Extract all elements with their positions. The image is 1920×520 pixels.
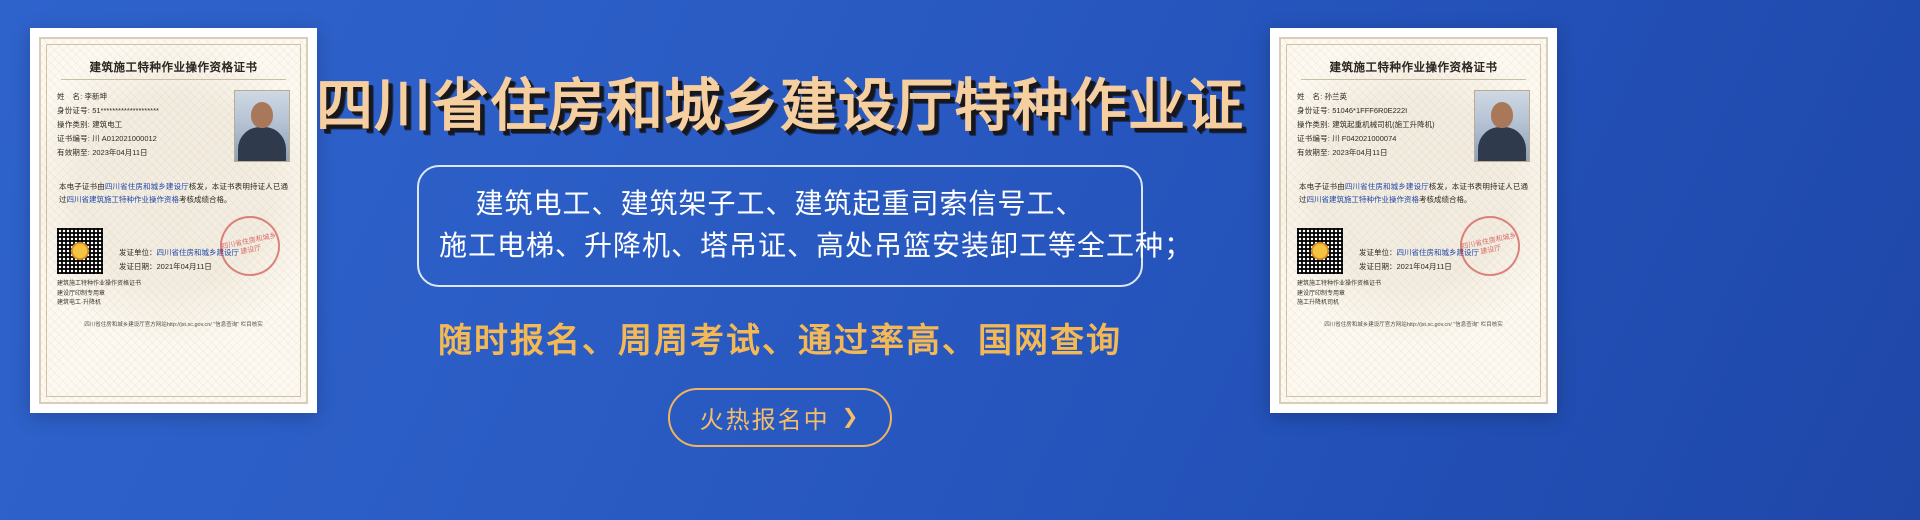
paragraph-highlight-2: 四川省建筑施工特种作业操作资格 (67, 195, 180, 204)
certificate-field-expiry: 有效期至: 2023年04月11日 (1297, 146, 1466, 160)
issue-date-value: 2021年04月11日 (1397, 262, 1452, 271)
field-label: 身份证号: (57, 106, 90, 115)
certificate-paragraph-right: 本电子证书由四川省住房和城乡建设厅核发，本证书表明持证人已通过四川省建筑施工特种… (1297, 180, 1530, 206)
banner-center-content: 四川省住房和城乡建设厅特种作业证 建筑电工、建筑架子工、建筑起重司索信号工、 施… (360, 0, 1200, 520)
certificate-field-category: 操作类别: 建筑电工 (57, 118, 226, 132)
field-value: 建筑起重机械司机(施工升降机) (1332, 120, 1435, 129)
certificate-mini-lines-left: 建筑施工特种作业操作资格证书 建设厅印制专用章 建筑电工·升降机 (57, 280, 290, 309)
certificate-field-number: 证书编号: 川 A012021000012 (57, 132, 226, 146)
mini-line: 建设厅印制专用章 (57, 290, 290, 300)
mini-line: 建筑电工·升降机 (57, 299, 290, 309)
field-label: 有效期至: (57, 148, 90, 157)
photo-torso (238, 127, 286, 161)
field-value: 51******************** (92, 106, 159, 115)
certificate-paragraph-left: 本电子证书由四川省住房和城乡建设厅核发，本证书表明持证人已通过四川省建筑施工特种… (57, 180, 290, 206)
certificate-title-rule-left (61, 79, 286, 80)
certificate-body-left: 姓 名: 李新坤 身份证号: 51******************** 操作… (57, 90, 290, 162)
certificate-field-name: 姓 名: 李新坤 (57, 90, 226, 104)
issue-date-line: 发证日期：2021年04月11日 (1359, 260, 1530, 274)
certificate-field-category: 操作类别: 建筑起重机械司机(施工升降机) (1297, 118, 1466, 132)
certificate-field-name: 姓 名: 孙兰英 (1297, 90, 1466, 104)
field-label: 姓 名: (57, 92, 82, 101)
certificate-fields-right: 姓 名: 孙兰英 身份证号: 51046*1FFF6R0E222I 操作类别: … (1297, 90, 1466, 162)
certificate-fields-left: 姓 名: 李新坤 身份证号: 51******************** 操作… (57, 90, 226, 162)
mini-line: 施工升降机司机 (1297, 299, 1530, 309)
issuer-line: 发证单位：四川省住房和城乡建设厅 (1359, 246, 1530, 260)
specialty-line-2: 施工电梯、升降机、塔吊证、高处吊篮安装卸工等全工种； (439, 225, 1121, 267)
field-label: 身份证号: (1297, 106, 1330, 115)
certificate-title-rule-right (1301, 79, 1526, 80)
certificate-card-right: 建筑施工特种作业操作资格证书 姓 名: 孙兰英 身份证号: 51046*1FFF… (1270, 28, 1557, 413)
field-label: 证书编号: (57, 134, 90, 143)
certificate-field-number: 证书编号: 川 F042021000074 (1297, 132, 1466, 146)
field-value: 51046*1FFF6R0E222I (1332, 106, 1407, 115)
chevron-right-icon: ❯ (842, 407, 861, 427)
issuer-line: 发证单位：四川省住房和城乡建设厅 (119, 246, 290, 260)
field-label: 证书编号: (1297, 134, 1330, 143)
paragraph-highlight: 四川省住房和城乡建设厅 (105, 182, 189, 191)
certificate-footer-left: 发证单位：四川省住房和城乡建设厅 发证日期：2021年04月11日 四川省住房和… (57, 228, 290, 274)
field-value: 孙兰英 (1324, 92, 1347, 101)
issue-date-label: 发证日期： (1359, 262, 1397, 271)
field-value: 川 F042021000074 (1332, 134, 1396, 143)
mini-line: 建筑施工特种作业操作资格证书 (57, 280, 290, 290)
photo-torso (1478, 127, 1526, 161)
field-value: 建筑电工 (92, 120, 122, 129)
field-value: 2023年04月11日 (92, 148, 147, 157)
page-title: 四川省住房和城乡建设厅特种作业证 (316, 78, 1244, 135)
certificate-field-expiry: 有效期至: 2023年04月11日 (57, 146, 226, 160)
certificate-inner-left: 建筑施工特种作业操作资格证书 姓 名: 李新坤 身份证号: 51********… (39, 37, 308, 404)
certificate-photo-right (1474, 90, 1530, 162)
issue-date-value: 2021年04月11日 (157, 262, 212, 271)
certificate-title-right: 建筑施工特种作业操作资格证书 (1297, 59, 1530, 75)
enroll-cta-button[interactable]: 火热报名中 ❯ (668, 388, 893, 447)
certificate-photo-left (234, 90, 290, 162)
field-value: 李新坤 (84, 92, 107, 101)
paragraph-highlight-2: 四川省建筑施工特种作业操作资格 (1307, 195, 1420, 204)
certificate-footer-right: 发证单位：四川省住房和城乡建设厅 发证日期：2021年04月11日 四川省住房和… (1297, 228, 1530, 274)
certificate-issuer-right: 发证单位：四川省住房和城乡建设厅 发证日期：2021年04月11日 四川省住房和… (1353, 246, 1530, 274)
certificate-field-id: 身份证号: 51046*1FFF6R0E222I (1297, 104, 1466, 118)
paragraph-end: 考核成绩合格。 (179, 195, 232, 204)
mini-line: 建设厅印制专用章 (1297, 290, 1530, 300)
certificate-mini-lines-right: 建筑施工特种作业操作资格证书 建设厅印制专用章 施工升降机司机 (1297, 280, 1530, 309)
certificate-body-right: 姓 名: 孙兰英 身份证号: 51046*1FFF6R0E222I 操作类别: … (1297, 90, 1530, 162)
mini-line: 建筑施工特种作业操作资格证书 (1297, 280, 1530, 290)
promo-banner: 建筑施工特种作业操作资格证书 姓 名: 李新坤 身份证号: 51********… (0, 0, 1920, 520)
issue-date-line: 发证日期：2021年04月11日 (119, 260, 290, 274)
paragraph-highlight: 四川省住房和城乡建设厅 (1345, 182, 1429, 191)
certificate-field-id: 身份证号: 51******************** (57, 104, 226, 118)
certificate-footer-note-right: 四川省住房和城乡建设厅官方网站http://jst.sc.gov.cn/ "信息… (1297, 321, 1530, 330)
paragraph-prefix: 本电子证书由 (1299, 182, 1345, 191)
paragraph-prefix: 本电子证书由 (59, 182, 105, 191)
certificate-footer-note-left: 四川省住房和城乡建设厅官方网站http://jst.sc.gov.cn/ "信息… (57, 321, 290, 330)
certificate-title-left: 建筑施工特种作业操作资格证书 (57, 59, 290, 75)
slogan-text: 随时报名、周周考试、通过率高、国网查询 (438, 313, 1122, 362)
issuer-label: 发证单位： (119, 248, 157, 257)
field-label: 操作类别: (57, 120, 90, 129)
issuer-label: 发证单位： (1359, 248, 1397, 257)
certificate-inner-right: 建筑施工特种作业操作资格证书 姓 名: 孙兰英 身份证号: 51046*1FFF… (1279, 37, 1548, 404)
specialty-line-1: 建筑电工、建筑架子工、建筑起重司索信号工、 (439, 183, 1121, 225)
photo-head (1491, 102, 1513, 128)
field-value: 2023年04月11日 (1332, 148, 1387, 157)
certificate-issuer-left: 发证单位：四川省住房和城乡建设厅 发证日期：2021年04月11日 四川省住房和… (113, 246, 290, 274)
enroll-cta-label: 火热报名中 (700, 400, 830, 435)
certificate-card-left: 建筑施工特种作业操作资格证书 姓 名: 李新坤 身份证号: 51********… (30, 28, 317, 413)
photo-head (251, 102, 273, 128)
qr-code-icon (57, 228, 103, 274)
field-value: 川 A012021000012 (92, 134, 157, 143)
field-label: 有效期至: (1297, 148, 1330, 157)
issuer-value: 四川省住房和城乡建设厅 (157, 248, 240, 257)
field-label: 姓 名: (1297, 92, 1322, 101)
issuer-value: 四川省住房和城乡建设厅 (1397, 248, 1480, 257)
qr-code-icon (1297, 228, 1343, 274)
field-label: 操作类别: (1297, 120, 1330, 129)
paragraph-end: 考核成绩合格。 (1419, 195, 1472, 204)
issue-date-label: 发证日期： (119, 262, 157, 271)
specialty-list-box: 建筑电工、建筑架子工、建筑起重司索信号工、 施工电梯、升降机、塔吊证、高处吊篮安… (417, 165, 1143, 287)
